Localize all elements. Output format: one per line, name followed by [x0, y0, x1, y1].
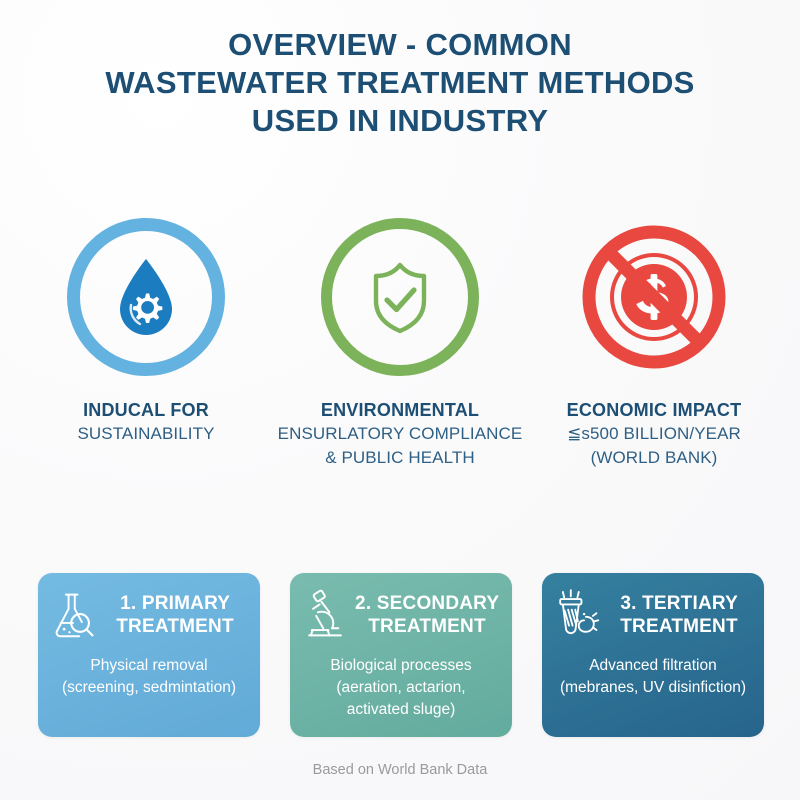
pillar-heading: ECONOMIC IMPACT	[567, 398, 742, 422]
card-body-line-2: (mebranes, UV disinfiction)	[560, 677, 746, 699]
card-header: 2. SECONDARY TREATMENT	[302, 589, 500, 641]
pillar-environmental: ENVIRONMENTAL ENSURLATORY COMPLIANCE & P…	[273, 218, 527, 470]
card-body-line-2: (aeration, actarion,	[330, 677, 471, 699]
pillar-caption: INDUCAL FOR SUSTAINABILITY	[77, 398, 214, 446]
pillar-line-2: & PUBLIC HEALTH	[278, 446, 523, 470]
card-body-line-3: activated sluge)	[330, 699, 471, 721]
card-description: Biological processes (aeration, actarion…	[330, 655, 471, 721]
card-description: Advanced filtration (mebranes, UV disinf…	[560, 655, 746, 699]
pillar-line-1: ENSURLATORY COMPLIANCE	[278, 422, 523, 446]
source-note: Based on World Bank Data	[0, 762, 800, 778]
pillar-economic-impact: ECONOMIC IMPACT ≦s500 BILLION/YEAR (WORL…	[527, 218, 781, 470]
card-title-line-2: TREATMENT	[368, 616, 486, 637]
card-title: 3. TERTIARY TREATMENT	[606, 592, 752, 638]
card-body-line-1: Physical removal	[62, 655, 236, 677]
card-title: 2. SECONDARY TREATMENT	[354, 592, 500, 638]
water-droplet-gear-icon	[98, 249, 194, 345]
card-description: Physical removal (screening, sedmintatio…	[62, 655, 236, 699]
infographic-canvas: OVERVIEW - COMMON WASTEWATER TREATMENT M…	[0, 0, 800, 800]
flask-magnifier-icon	[50, 589, 96, 641]
icon-ring-red	[575, 218, 733, 376]
card-tertiary-treatment[interactable]: 3. TERTIARY TREATMENT Advanced filtratio…	[542, 573, 764, 737]
card-title-line-1: 2. SECONDARY	[355, 593, 499, 614]
page-title: OVERVIEW - COMMON WASTEWATER TREATMENT M…	[0, 26, 800, 140]
pillar-line-2: (WORLD BANK)	[567, 446, 742, 470]
treatment-steps-row: 1. PRIMARY TREATMENT Physical removal (s…	[38, 573, 764, 737]
title-line-2: WASTEWATER TREATMENT METHODS	[0, 64, 800, 102]
pillar-line-1: SUSTAINABILITY	[77, 422, 214, 446]
card-title-line-1: 1. PRIMARY	[120, 593, 230, 614]
filter-microbe-icon	[554, 589, 600, 641]
microscope-icon	[302, 589, 348, 641]
card-header: 3. TERTIARY TREATMENT	[554, 589, 752, 641]
pillar-caption: ENVIRONMENTAL ENSURLATORY COMPLIANCE & P…	[278, 398, 523, 470]
card-body-line-2: (screening, sedmintation)	[62, 677, 236, 699]
title-line-3: USED IN INDUSTRY	[0, 102, 800, 140]
pillar-heading: ENVIRONMENTAL	[278, 398, 523, 422]
title-line-1: OVERVIEW - COMMON	[0, 26, 800, 64]
pillar-line-1: ≦s500 BILLION/YEAR	[567, 422, 742, 446]
pillar-sustainability: INDUCAL FOR SUSTAINABILITY	[19, 218, 273, 470]
card-body-line-1: Advanced filtration	[560, 655, 746, 677]
no-money-prohibition-icon	[575, 218, 733, 376]
shield-check-icon	[354, 251, 446, 343]
pillars-row: INDUCAL FOR SUSTAINABILITY ENVIRONMENTAL…	[0, 218, 800, 470]
card-title: 1. PRIMARY TREATMENT	[102, 592, 248, 638]
icon-ring-green	[321, 218, 479, 376]
card-secondary-treatment[interactable]: 2. SECONDARY TREATMENT Biological proces…	[290, 573, 512, 737]
card-title-line-1: 3. TERTIARY	[620, 593, 737, 614]
card-header: 1. PRIMARY TREATMENT	[50, 589, 248, 641]
pillar-caption: ECONOMIC IMPACT ≦s500 BILLION/YEAR (WORL…	[567, 398, 742, 470]
icon-ring-blue	[67, 218, 225, 376]
card-title-line-2: TREATMENT	[116, 616, 234, 637]
card-title-line-2: TREATMENT	[620, 616, 738, 637]
card-primary-treatment[interactable]: 1. PRIMARY TREATMENT Physical removal (s…	[38, 573, 260, 737]
pillar-heading: INDUCAL FOR	[77, 398, 214, 422]
card-body-line-1: Biological processes	[330, 655, 471, 677]
